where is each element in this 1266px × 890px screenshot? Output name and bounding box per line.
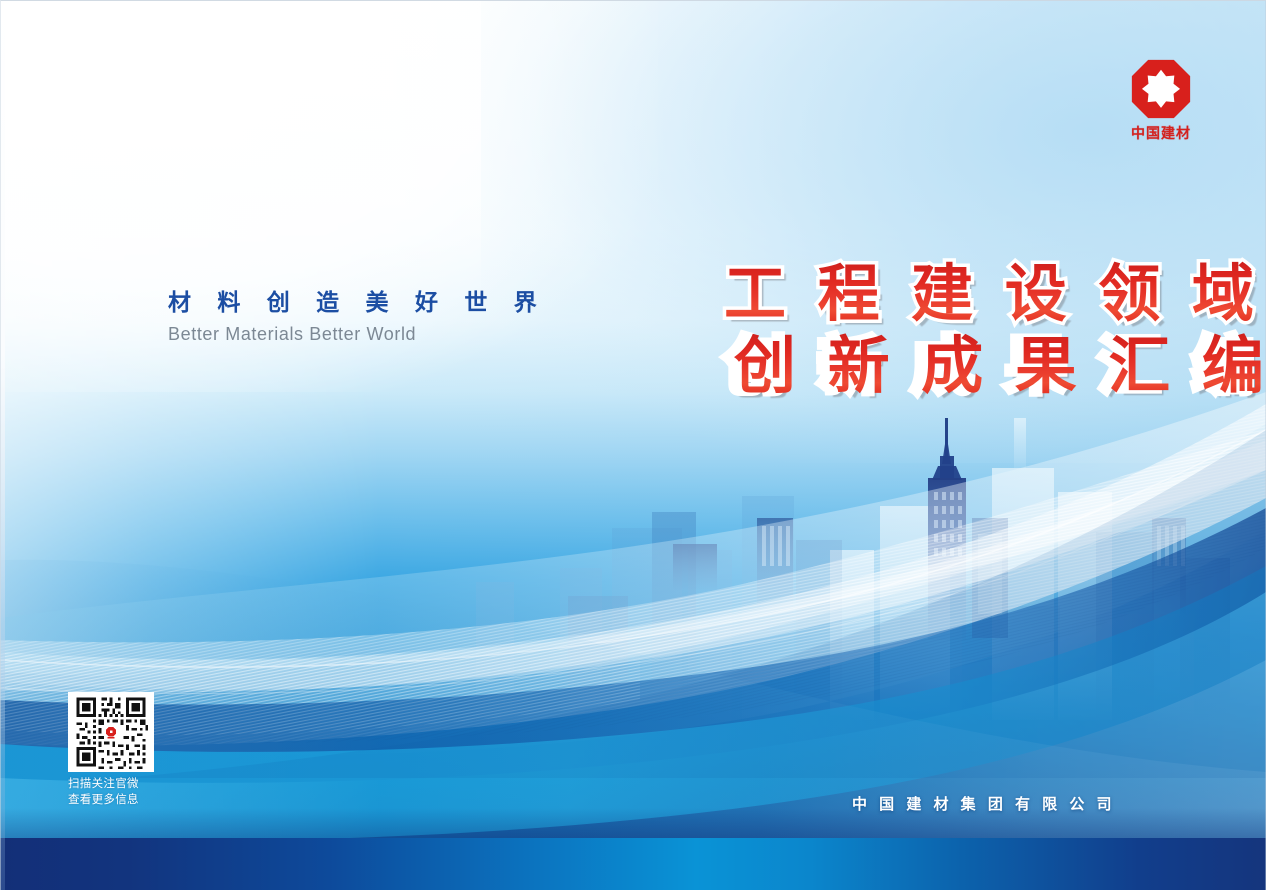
qr-caption: 扫描关注官微 查看更多信息 [68, 777, 154, 808]
qr-caption-line-1: 扫描关注官微 [68, 777, 154, 793]
qr-code-icon[interactable] [68, 692, 154, 772]
book-cover: 中国建材 材 料 创 造 美 好 世 界 Better Materials Be… [0, 0, 1266, 890]
brand-logo[interactable]: 中国建材 [1122, 58, 1200, 140]
qr-block[interactable]: 扫描关注官微 查看更多信息 [68, 692, 154, 808]
slogan-block: 材 料 创 造 美 好 世 界 Better Materials Better … [168, 288, 547, 345]
bottom-color-band [0, 838, 1266, 890]
title-line-1-fill: 工 程 建 设 领 域 [724, 257, 1259, 330]
slogan-english: Better Materials Better World [168, 324, 547, 346]
company-name: 中 国 建 材 集 团 有 限 公 司 [852, 793, 1116, 814]
title-line-1: 工 程 建 设 领 域 工 程 建 设 领 域 工 程 建 设 领 域 [724, 258, 1184, 330]
logo-wordmark: 中国建材 [1122, 126, 1200, 140]
cover-title: 工 程 建 设 领 域 工 程 建 设 领 域 工 程 建 设 领 域 创 新 … [724, 258, 1184, 402]
slogan-chinese: 材 料 创 造 美 好 世 界 [168, 288, 547, 317]
title-line-2-fill: 创 新 成 果 汇 编 [734, 329, 1266, 402]
title-line-2: 创 新 成 果 汇 编 创 新 成 果 汇 编 创 新 成 果 汇 编 [724, 330, 1184, 402]
flowing-wave-ribbons [0, 0, 1266, 890]
octagon-star-logo-icon [1130, 58, 1192, 120]
spine-edge [0, 0, 5, 890]
qr-caption-line-2: 查看更多信息 [68, 793, 154, 809]
